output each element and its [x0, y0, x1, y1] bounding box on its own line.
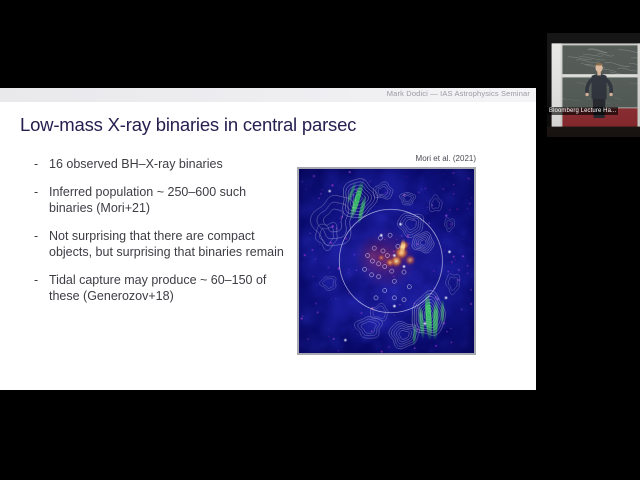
presenter-video-tile[interactable]: Bloomberg Lecture Ha... — [547, 33, 640, 137]
slide-header-label: Mark Dodici — IAS Astrophysics Seminar — [387, 89, 530, 98]
slide-header-bar: Mark Dodici — IAS Astrophysics Seminar — [0, 88, 536, 102]
galactic-center-image — [299, 169, 474, 353]
bullet-marker: - — [34, 156, 49, 173]
bullet-item: - Not surprising that there are compact … — [34, 228, 284, 261]
bullet-text: 16 observed BH–X-ray binaries — [49, 156, 223, 173]
bullet-text: Tidal capture may produce ~ 60–150 of th… — [49, 272, 284, 305]
bullet-marker: - — [34, 184, 49, 201]
galactic-center-figure — [297, 167, 476, 355]
participant-name-badge: Bloomberg Lecture Ha... — [547, 107, 618, 115]
presenter-video-feed — [547, 33, 640, 137]
bullet-item: - Tidal capture may produce ~ 60–150 of … — [34, 272, 284, 305]
shared-slide: Mark Dodici — IAS Astrophysics Seminar L… — [0, 88, 536, 390]
slide-title: Low-mass X-ray binaries in central parse… — [20, 114, 356, 136]
bullet-text: Inferred population ~ 250–600 such binar… — [49, 184, 284, 217]
slide-figure-block: Mori et al. (2021) — [297, 167, 476, 355]
figure-credit-label: Mori et al. (2021) — [416, 154, 476, 163]
bullet-marker: - — [34, 272, 49, 289]
slide-bullet-list: - 16 observed BH–X-ray binaries - Inferr… — [34, 156, 284, 316]
bullet-marker: - — [34, 228, 49, 245]
bullet-item: - 16 observed BH–X-ray binaries — [34, 156, 284, 173]
video-call-stage: Mark Dodici — IAS Astrophysics Seminar L… — [0, 0, 640, 480]
bullet-item: - Inferred population ~ 250–600 such bin… — [34, 184, 284, 217]
bullet-text: Not surprising that there are compact ob… — [49, 228, 284, 261]
